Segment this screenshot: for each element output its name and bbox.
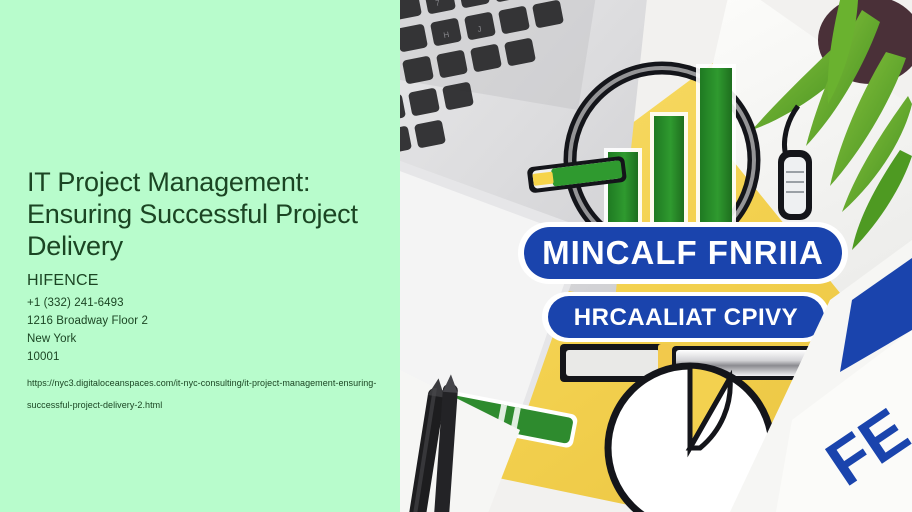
banner-secondary: HRCAALIAT CPIVY — [542, 292, 830, 342]
company-phone: +1 (332) 241-6493 — [27, 294, 379, 312]
banner-primary-text: MINCALF FNRIIA — [542, 234, 824, 271]
company-name: HIFENCE — [27, 271, 379, 291]
company-zip: 10001 — [27, 348, 379, 366]
desk-flatlay-illustration: 7 8 H J — [400, 0, 912, 512]
page-title: IT Project Management: Ensuring Successf… — [27, 166, 379, 262]
poster-canvas: IT Project Management: Ensuring Successf… — [0, 0, 912, 512]
article-hero-image: 7 8 H J — [400, 0, 912, 512]
banner-primary: MINCALF FNRIIA — [518, 222, 848, 284]
company-street: 1216 Broadway Floor 2 — [27, 312, 379, 330]
company-city: New York — [27, 330, 379, 348]
article-info-block: IT Project Management: Ensuring Successf… — [27, 166, 379, 416]
article-url[interactable]: https://nyc3.digitaloceanspaces.com/it-n… — [27, 372, 379, 416]
text-panel: IT Project Management: Ensuring Successf… — [0, 0, 400, 512]
banner-secondary-text: HRCAALIAT CPIVY — [574, 304, 798, 331]
